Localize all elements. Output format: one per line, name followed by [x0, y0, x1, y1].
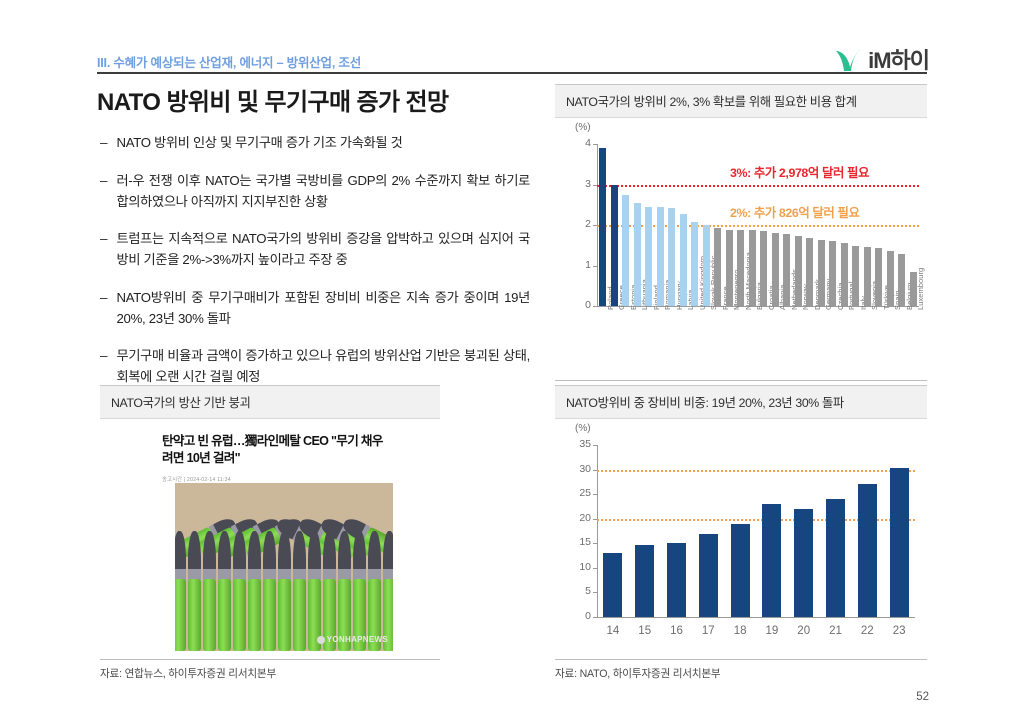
- page-title: NATO 방위비 및 무기구매 증가 전망: [97, 82, 448, 117]
- chart-defense-spend-by-country: (%)012343%: 추가 2,978억 달러 필요2%: 추가 826억 달…: [555, 118, 927, 380]
- y-axis-tick: 2: [563, 218, 591, 230]
- bar: [731, 524, 750, 617]
- header-divider: [97, 72, 927, 74]
- artillery-shell: [308, 531, 321, 651]
- card-title: NATO방위비 중 장비비 비중: 19년 20%, 23년 30% 돌파: [555, 385, 927, 419]
- artillery-shell: [323, 531, 336, 651]
- artillery-shell: [203, 531, 216, 651]
- x-axis-label: 16: [661, 625, 693, 637]
- card-title: NATO국가의 방산 기반 붕괴: [100, 385, 440, 419]
- x-axis-line: [597, 617, 915, 618]
- y-axis-unit: (%): [575, 423, 591, 434]
- bar: [890, 468, 909, 617]
- page-number: 52: [916, 691, 929, 703]
- artillery-shell: [383, 531, 393, 651]
- y-axis-tick: 0: [563, 610, 591, 622]
- artillery-shell: [233, 531, 246, 651]
- artillery-shell: [188, 531, 201, 651]
- y-axis-tick: 3: [563, 178, 591, 190]
- list-item: – 러-우 전쟁 이후 NATO는 국가별 국방비를 GDP의 2% 수준까지 …: [100, 171, 530, 212]
- bullet-text: 러-우 전쟁 이후 NATO는 국가별 국방비를 GDP의 2% 수준까지 확보…: [117, 171, 530, 212]
- bullet-text: 트럼프는 지속적으로 NATO국가의 방위비 증강을 압박하고 있으며 심지어 …: [117, 229, 530, 270]
- artillery-shell: [353, 531, 366, 651]
- news-headline: 탄약고 빈 유럽…獨라인메탈 CEO "무기 채우려면 10년 걸려": [162, 433, 384, 466]
- bullet-text: 무기구매 비율과 금액이 증가하고 있으나 유럽의 방위산업 기반은 붕괴된 상…: [117, 346, 530, 387]
- reference-line-label: 2%: 추가 826억 달러 필요: [730, 203, 859, 221]
- list-item: – 트럼프는 지속적으로 NATO국가의 방위비 증강을 압박하고 있으며 심지…: [100, 229, 530, 270]
- artillery-shell: [175, 531, 186, 651]
- card-title: NATO국가의 방위비 2%, 3% 확보를 위해 필요한 비용 합계: [555, 84, 927, 118]
- card-news-clipping: NATO국가의 방산 기반 붕괴 탄약고 빈 유럽…獨라인메탈 CEO "무기 …: [100, 385, 440, 681]
- news-text-block: 탄약고 빈 유럽…獨라인메탈 CEO "무기 채우려면 10년 걸려" 송고시간…: [162, 433, 384, 483]
- x-axis-label: Luxembourg: [916, 268, 925, 310]
- y-axis-tick: 1: [563, 259, 591, 271]
- card-defense-cost: NATO국가의 방위비 2%, 3% 확보를 위해 필요한 비용 합계 (%)0…: [555, 84, 927, 402]
- bar: [858, 484, 877, 617]
- bullet-marker: –: [100, 229, 108, 270]
- bullet-marker: –: [100, 171, 108, 212]
- bar: [762, 504, 781, 617]
- section-kicker: III. 수혜가 예상되는 산업재, 에너지 – 방위산업, 조선: [97, 52, 361, 71]
- x-axis-label: 15: [629, 625, 661, 637]
- x-axis-label: 22: [851, 625, 883, 637]
- card-source: 자료: NATO, 하이투자증권 리서치본부: [555, 659, 927, 681]
- artillery-shell: [263, 531, 276, 651]
- artillery-shell: [218, 531, 231, 651]
- bar: [599, 148, 606, 306]
- y-axis-tick: 30: [563, 463, 591, 475]
- watermark-dot-icon: [317, 636, 325, 644]
- card-source: 자료: 연합뉴스, 하이투자증권 리서치본부: [100, 659, 440, 681]
- list-item: – NATO방위비 중 무기구매비가 포함된 장비비 비중은 지속 증가 중이며…: [100, 288, 530, 329]
- bar: [667, 543, 686, 617]
- bullet-text: NATO방위비 중 무기구매비가 포함된 장비비 비중은 지속 증가 중이며 1…: [117, 288, 530, 329]
- y-axis-tick: 4: [563, 137, 591, 149]
- y-axis-tick: 25: [563, 487, 591, 499]
- reference-line: [597, 470, 915, 472]
- news-photo-artillery-shells: YONHAPNEWS: [175, 483, 393, 651]
- card-equipment-share: NATO방위비 중 장비비 비중: 19년 20%, 23년 30% 돌파 (%…: [555, 385, 927, 681]
- bar: [603, 553, 622, 617]
- chart-equipment-share-trend: (%)0510152025303514151617181920212223: [555, 419, 927, 659]
- y-axis-tick: 15: [563, 536, 591, 548]
- y-axis-tick: 0: [563, 299, 591, 311]
- list-item: – NATO 방위비 인상 및 무기구매 증가 기조 가속화될 것: [100, 133, 530, 154]
- artillery-shell: [278, 531, 291, 651]
- bullet-marker: –: [100, 133, 108, 154]
- slide: III. 수혜가 예상되는 산업재, 에너지 – 방위산업, 조선 NATO 방…: [0, 0, 1024, 723]
- x-axis-label: 23: [883, 625, 915, 637]
- artillery-shell: [293, 531, 306, 651]
- photo-watermark: YONHAPNEWS: [317, 635, 388, 644]
- x-axis-label: 21: [820, 625, 852, 637]
- bar: [635, 545, 654, 617]
- y-axis-tick: 35: [563, 438, 591, 450]
- artillery-shell: [248, 531, 261, 651]
- y-axis-unit: (%): [575, 122, 591, 133]
- x-axis-label: 20: [788, 625, 820, 637]
- brand-logo: iM하이: [835, 44, 929, 74]
- y-axis-tick: 20: [563, 512, 591, 524]
- x-axis-label: 17: [692, 625, 724, 637]
- bullet-marker: –: [100, 288, 108, 329]
- bullet-marker: –: [100, 346, 108, 387]
- bullet-list: – NATO 방위비 인상 및 무기구매 증가 기조 가속화될 것 – 러-우 …: [100, 133, 530, 405]
- y-axis-tick: 10: [563, 561, 591, 573]
- logo-text: iM하이: [868, 43, 929, 75]
- list-item: – 무기구매 비율과 금액이 증가하고 있으나 유럽의 방위산업 기반은 붕괴된…: [100, 346, 530, 387]
- y-axis-tick: 5: [563, 585, 591, 597]
- artillery-shell: [368, 531, 381, 651]
- reference-line-label: 3%: 추가 2,978억 달러 필요: [730, 163, 869, 181]
- bullet-text: NATO 방위비 인상 및 무기구매 증가 기조 가속화될 것: [117, 133, 403, 154]
- x-axis-label: 18: [724, 625, 756, 637]
- news-clipping: 탄약고 빈 유럽…獨라인메탈 CEO "무기 채우려면 10년 걸려" 송고시간…: [100, 419, 440, 659]
- x-axis-label: 19: [756, 625, 788, 637]
- watermark-text: YONHAPNEWS: [327, 635, 388, 644]
- x-axis-label: 14: [597, 625, 629, 637]
- bar: [826, 499, 845, 617]
- bar: [794, 509, 813, 617]
- logo-swoosh-icon: [835, 47, 862, 72]
- reference-line: [597, 185, 919, 187]
- bar: [699, 534, 718, 617]
- artillery-shell: [338, 531, 351, 651]
